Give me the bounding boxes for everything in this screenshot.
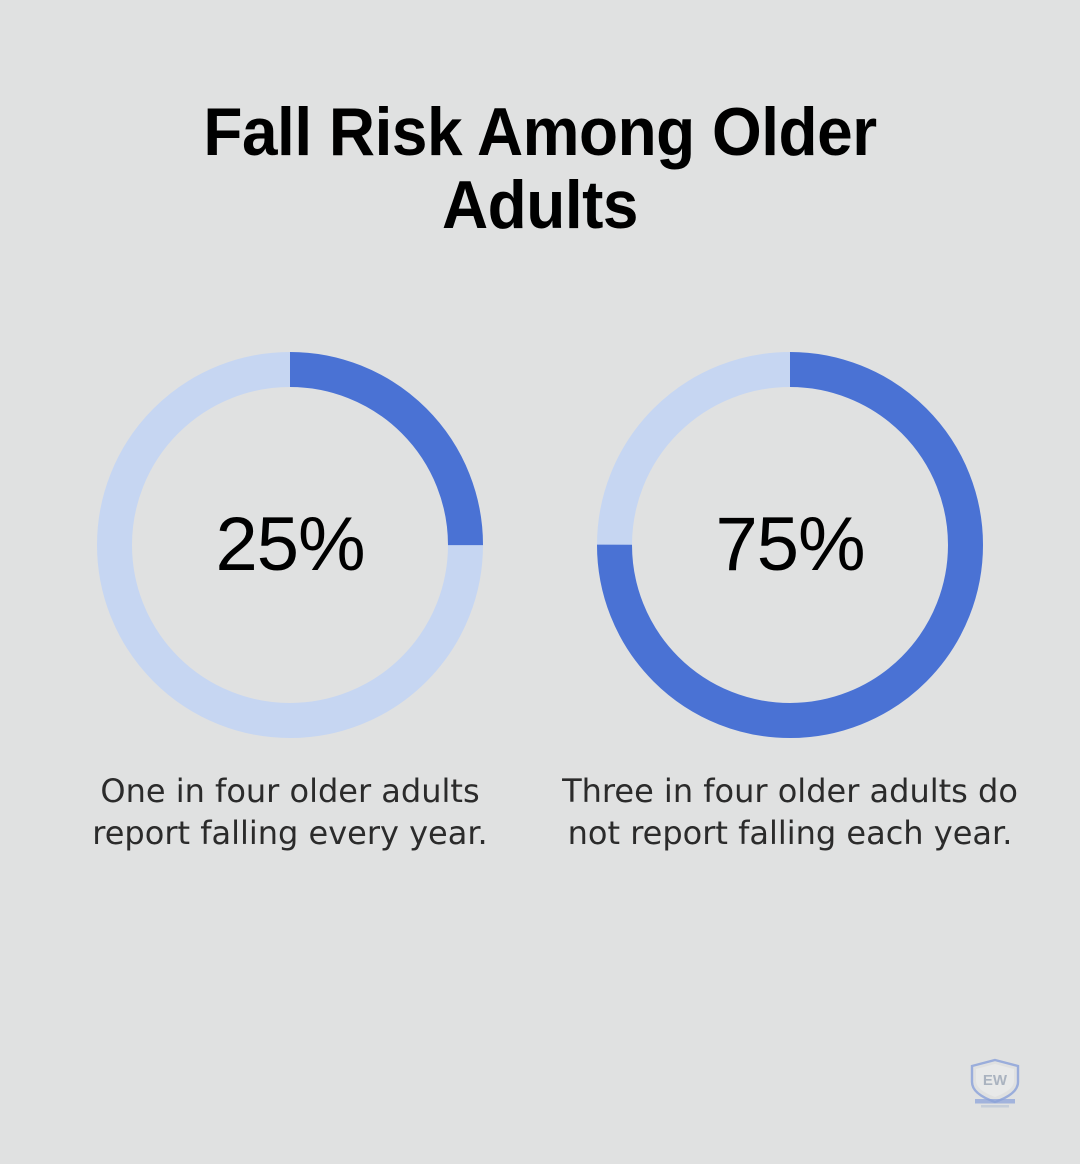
logo-tagline-bar xyxy=(981,1105,1009,1108)
chart-block-fall-risk: 25% One in four older adults report fall… xyxy=(60,352,520,854)
brand-logo-watermark: EW xyxy=(962,1052,1028,1112)
logo-wordmark-bar xyxy=(975,1099,1015,1104)
logo-mark-letters: EW xyxy=(983,1072,1008,1089)
chart-block-no-fall: 75% Three in four older adults do not re… xyxy=(560,352,1020,854)
title-text: Fall Risk Among Older Adults xyxy=(164,96,916,243)
charts-row: 25% One in four older adults report fall… xyxy=(0,352,1080,854)
donut-chart-75: 75% xyxy=(597,352,983,738)
chart-caption: One in four older adults report falling … xyxy=(65,770,515,854)
infographic-canvas: Fall Risk Among Older Adults 25% One in … xyxy=(0,0,1080,1164)
chart-caption: Three in four older adults do not report… xyxy=(555,770,1025,854)
page-title: Fall Risk Among Older Adults xyxy=(0,96,1080,243)
donut-chart-25: 25% xyxy=(97,352,483,738)
